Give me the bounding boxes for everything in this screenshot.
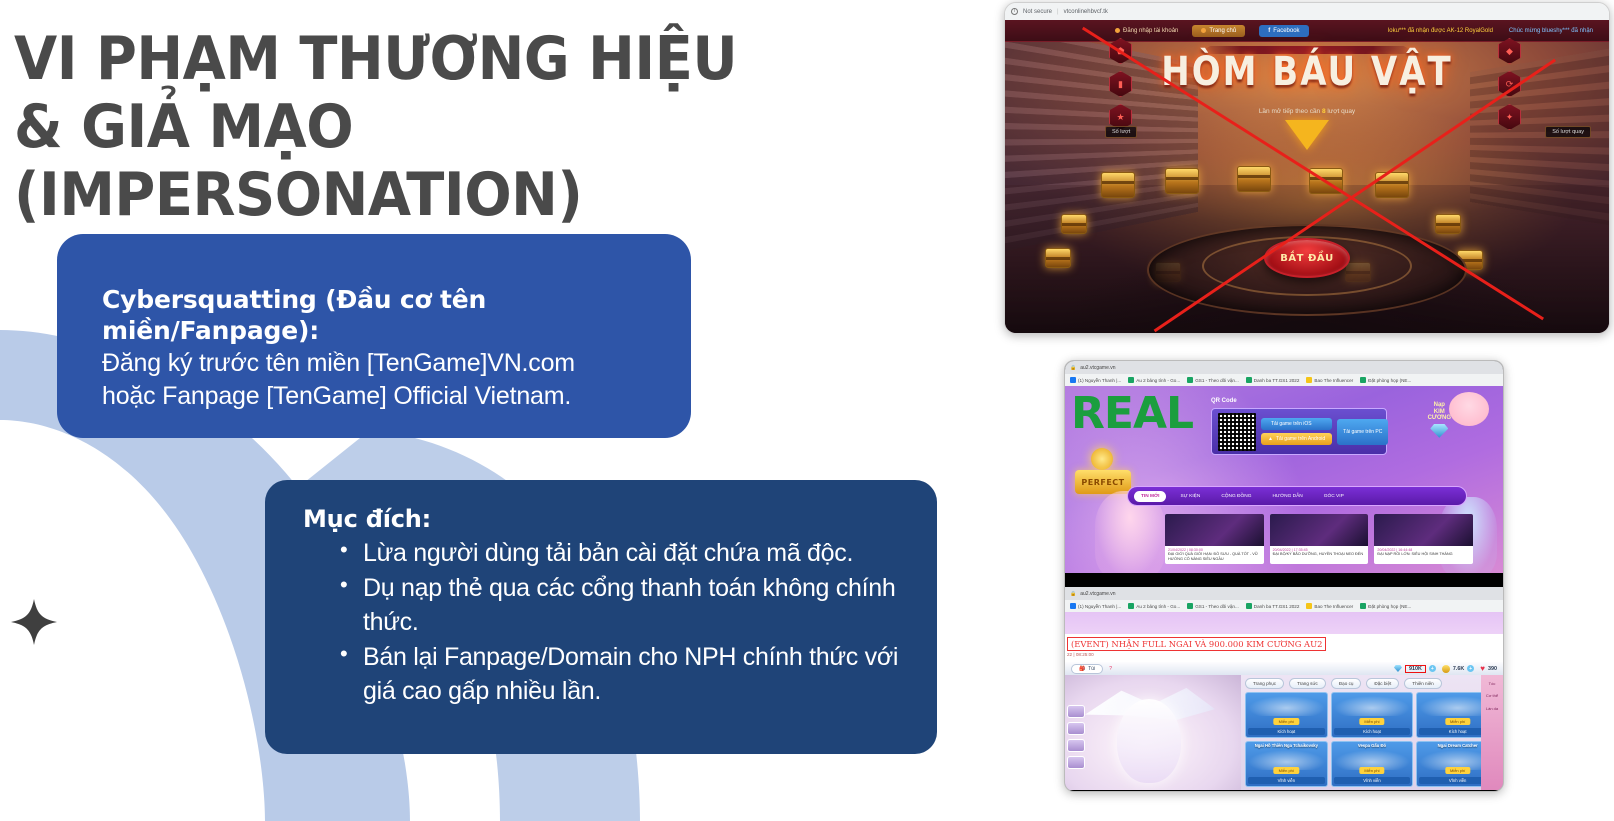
site-nav-bar: TIN MỚI SỰ KIỆN CỘNG ĐỒNG HƯỚNG DẪN GÓC … (1127, 486, 1467, 506)
bookmarks-bar: (1) Nguyễn Thanh |... Au 2 bảng tính - G… (1065, 374, 1503, 386)
mascot-icon (1449, 392, 1489, 426)
url-text: vtconlinehbvcf.tk (1064, 9, 1108, 15)
add-gold-button[interactable]: + (1467, 665, 1474, 672)
shop-item[interactable]: Miễn phí Kích hoạt (1245, 692, 1328, 738)
shop-item-tag: Miễn phí (1359, 767, 1384, 774)
bookmark-icon (1128, 377, 1134, 383)
subtitle-pre: Lần mở tiếp theo cần (1259, 108, 1320, 115)
lock-icon: 🔒 (1070, 365, 1076, 371)
content-column: VI PHẠM THƯƠNG HIỆU & GIẢ MẠO (IMPERSONA… (0, 0, 1000, 821)
start-button[interactable]: BẮT ĐẦU (1264, 238, 1350, 278)
shop-item-name: Ngai Hồ Thiên Nga Tchaikovsky (1248, 744, 1325, 749)
info-icon: i (1011, 8, 1018, 15)
subtitle-post: lượt quay (1327, 108, 1355, 115)
shop-item-art (1334, 696, 1411, 716)
shop-tab-dao-cu[interactable]: Đạo cụ (1331, 678, 1362, 689)
diamond-currency: 910K + (1394, 665, 1436, 673)
browser-chrome-fake: 🔒 au2.vtcgame.vn (1065, 587, 1503, 600)
avatar-slot-button[interactable] (1067, 722, 1085, 735)
login-label: Đăng nhập tài khoản (1123, 28, 1178, 34)
facebook-icon: f (1268, 28, 1270, 34)
browser-chrome-bottom: 🔒 au2.vtcgame.vn (1065, 361, 1503, 374)
purpose-heading: Mục đích: (303, 504, 937, 534)
list-item: Lừa người dùng tải bản cài đặt chứa mã đ… (337, 536, 917, 571)
news-card[interactable]: 21/04/2022 | 08:30:00 ĐẠI GIỚI QUÀ GIỚI … (1165, 514, 1264, 564)
gold-amount: 7.6K (1453, 666, 1464, 672)
bookmark-item[interactable]: (1) Nguyễn Thanh |... (1070, 603, 1121, 609)
hex-button-item[interactable]: ▮ (1109, 71, 1132, 97)
shop-item-tag: Miễn phí (1274, 718, 1299, 725)
browser-chrome-top: i Not secure | vtconlinehbvcf.tk (1005, 3, 1609, 20)
url-text-bottom: au2.vtcgame.vn (1080, 365, 1115, 371)
login-link[interactable]: Đăng nhập tài khoản (1115, 28, 1178, 34)
rail-label-co-the[interactable]: Cơ thể (1481, 687, 1503, 699)
purpose-bullet-list: Lừa người dùng tải bản cài đặt chứa mã đ… (337, 536, 937, 709)
shop-item-sub: Vĩnh viễn (1334, 777, 1411, 784)
news-thumbnail (1270, 514, 1369, 546)
android-icon: ▲ (1268, 436, 1273, 442)
bookmark-item[interactable]: Au 2 bảng tính - Go... (1128, 377, 1180, 383)
chest-icon[interactable] (1165, 168, 1199, 194)
page-title: VI PHẠM THƯƠNG HIỆU & GIẢ MẠO (IMPERSONA… (14, 26, 935, 229)
promo-nap: Nạp (1428, 402, 1451, 409)
address-bar[interactable]: i Not secure | vtconlinehbvcf.tk (1011, 8, 1108, 15)
left-hex-menu: ⬟ ▮ ★ (1109, 38, 1132, 130)
download-ios-label: Tải game trên iOS (1271, 421, 1312, 427)
address-bar-fake[interactable]: 🔒 au2.vtcgame.vn (1070, 591, 1116, 597)
bookmark-icon (1360, 603, 1366, 609)
shop-item-tag: Miễn phí (1445, 767, 1470, 774)
rail-label-lan-da[interactable]: Làn da (1481, 700, 1503, 712)
bookmark-item[interactable]: Bao The Influencer (1306, 377, 1353, 383)
fake-game-site-screenshot: i Not secure | vtconlinehbvcf.tk Đăng nh… (1004, 2, 1610, 334)
shop-item-art (1248, 696, 1325, 716)
purpose-card: Mục đích: Lừa người dùng tải bản cài đặt… (265, 480, 937, 754)
fake-game-hud: 🎒 Túi ? 910K + 7.6K + (1065, 662, 1503, 790)
page-title-line1: VI PHẠM THƯƠNG HIỆU (14, 24, 737, 94)
hex-button-gift[interactable]: ✦ (1498, 104, 1521, 130)
fake-site-stage: FAKE (EVENT) NHẬN FULL NGAI VÀ 900.000 K… (1065, 612, 1503, 662)
news-title: ĐẠI GIỚI QUÀ GIỚI HẠN: ĐỒ SƯU - QUÀ TỐT … (1165, 552, 1264, 564)
real-site-stage: REAL PERFECT QR Code Tải game trên iOS ▲ (1065, 386, 1503, 573)
diamond-promo[interactable]: Nạp KIM CƯƠNG (1428, 402, 1451, 438)
tab-huong-dan[interactable]: HƯỚNG DẪN (1265, 491, 1309, 502)
down-arrow-icon (1285, 120, 1329, 150)
bookmark-item[interactable]: Đặt phòng họp (NE... (1360, 377, 1411, 383)
chest-icon[interactable] (1101, 172, 1135, 198)
bookmark-icon (1246, 603, 1252, 609)
download-pc-button[interactable]: Tải game trên PC (1337, 419, 1388, 445)
bookmark-icon (1187, 377, 1193, 383)
event-timestamp: 22 | 08:25:00 (1067, 652, 1094, 657)
bookmark-item[interactable]: Danh ba TT.GS1 2022 (1246, 603, 1300, 609)
bookmark-label: (1) Nguyễn Thanh |... (1078, 604, 1121, 609)
news-title: ĐẠI NẠP RỒI LỚN: SIÊU HỘI SINH THÁNG (1374, 552, 1473, 560)
tab-su-kien[interactable]: SỰ KIỆN (1173, 491, 1207, 502)
bookmark-icon (1187, 603, 1193, 609)
avatar-slot-button[interactable] (1067, 739, 1085, 752)
chest-icon[interactable] (1045, 248, 1071, 268)
cybersquatting-card: Cybersquatting (Đầu cơ tên miền/Fanpage)… (57, 234, 691, 438)
bookmark-label: Au 2 bảng tính - Go... (1136, 378, 1180, 383)
heart-currency: ♥ 390 (1480, 665, 1497, 673)
shop-item[interactable]: Miễn phí Kích hoạt (1331, 692, 1414, 738)
event-banner-row: (EVENT) NHẬN FULL NGAI VÀ 900.000 KIM CƯ… (1065, 634, 1503, 654)
diamond-icon (1394, 665, 1402, 672)
chest-icon[interactable] (1435, 214, 1461, 234)
shop-right-rail: Tóc Cơ thể Làn da (1481, 675, 1503, 790)
avatar-slot-button[interactable] (1067, 705, 1085, 718)
spins-chip-left: Số lượt (1105, 126, 1137, 138)
home-icon (1201, 28, 1206, 33)
news-thumbnail (1165, 514, 1264, 546)
security-label: Not secure (1023, 9, 1052, 15)
spins-chip-right: Số lượt quay (1545, 126, 1591, 138)
news-card-row: 21/04/2022 | 08:30:00 ĐẠI GIỚI QUÀ GIỚI … (1165, 514, 1473, 564)
bookmark-item[interactable]: (1) Nguyễn Thanh |... (1070, 377, 1121, 383)
bookmark-label: Au 2 bảng tính - Go... (1136, 604, 1180, 609)
real-vs-fake-screenshot: 🔒 au2.vtcgame.vn (1) Nguyễn Thanh |... A… (1064, 360, 1504, 792)
hud-top-bar: 🎒 Túi ? 910K + 7.6K + (1065, 662, 1503, 675)
chest-icon[interactable] (1375, 172, 1409, 198)
news-thumbnail (1374, 514, 1473, 546)
shop-item-sub: Vĩnh viễn (1248, 777, 1325, 784)
diamond-icon (1430, 424, 1448, 438)
url-text-fake: au2.vtcgame.vn (1080, 591, 1115, 597)
shop-item-name: Vespa Gấu Đỏ (1334, 744, 1411, 749)
cybersquatting-line1: Đăng ký trước tên miền [TenGame]VN.com (102, 347, 691, 381)
bookmark-icon (1070, 603, 1076, 609)
screenshot-divider (1065, 573, 1503, 587)
bookmark-item[interactable]: Bao The Influencer (1306, 603, 1353, 609)
home-button[interactable]: Trang chủ (1192, 25, 1245, 37)
bookmark-icon (1306, 603, 1312, 609)
download-ios-button[interactable]: Tải game trên iOS (1261, 418, 1332, 430)
bookmark-item[interactable]: Đặt phòng họp (NE... (1360, 603, 1411, 609)
chest-icon[interactable] (1061, 214, 1087, 234)
chest-icon[interactable] (1309, 168, 1343, 194)
page-title-line2: & GIẢ MẠO (IMPERSONATION) (14, 94, 935, 230)
facebook-button[interactable]: f Facebook (1259, 25, 1308, 37)
screenshot-column: i Not secure | vtconlinehbvcf.tk Đăng nh… (1000, 0, 1614, 821)
qr-code-label: QR Code (1211, 398, 1237, 404)
bookmark-label: Bao The Influencer (1314, 378, 1353, 383)
bookmark-label: (1) Nguyễn Thanh |... (1078, 378, 1121, 383)
chest-icon[interactable] (1237, 166, 1271, 192)
gold-currency: 7.6K + (1442, 665, 1474, 673)
rail-label-toc[interactable]: Tóc (1481, 675, 1503, 687)
news-card[interactable]: 20/04/2022 | 17:35:45 ĐẠI BỘ/KỲ BÃO DƯỠN… (1270, 514, 1369, 564)
list-item: Bán lại Fanpage/Domain cho NPH chính thứ… (337, 640, 917, 709)
event-banner-text: (EVENT) NHẬN FULL NGAI VÀ 900.000 KIM CƯ… (1067, 637, 1326, 651)
shop-panel: Trang phục Trang sức Đạo cụ Đặc biệt Thi… (1241, 675, 1503, 790)
qr-code-icon (1218, 413, 1256, 451)
right-hex-menu: ◆ ⟳ ✦ (1498, 38, 1521, 130)
download-android-button[interactable]: ▲ Tải game trên Android (1261, 433, 1332, 445)
shop-tab-trang-suc[interactable]: Trang sức (1289, 678, 1326, 689)
bookmark-label: Bao The Influencer (1314, 604, 1353, 609)
shop-tab-row: Trang phục Trang sức Đạo cụ Đặc biệt Thi… (1241, 675, 1503, 692)
bookmark-label: Danh ba TT.GS1 2022 (1254, 604, 1300, 609)
game-page-body: Đăng nhập tài khoản Trang chủ f Facebook… (1005, 20, 1609, 334)
user-icon (1115, 28, 1120, 33)
bookmark-icon (1246, 377, 1252, 383)
avatar (1117, 699, 1181, 783)
cybersquatting-line2: hoặc Fanpage [TenGame] Official Vietnam. (102, 380, 691, 414)
star-badge-icon (1091, 448, 1113, 470)
bookmark-icon (1128, 603, 1134, 609)
tab-tin-moi[interactable]: TIN MỚI (1134, 491, 1166, 502)
avatar-slot-button[interactable] (1067, 756, 1085, 769)
bookmark-icon (1306, 377, 1312, 383)
download-pc-label: Tải game trên PC (1343, 429, 1382, 435)
bookmark-icon (1070, 377, 1076, 383)
bookmark-label: Danh ba TT.GS1 2022 (1254, 378, 1300, 383)
bookmarks-bar-fake: (1) Nguyễn Thanh |... Au 2 bảng tính - G… (1065, 600, 1503, 612)
home-label: Trang chủ (1209, 28, 1236, 34)
shop-grid-row-2: Ngai Hồ Thiên Nga Tchaikovsky Miễn phí V… (1241, 741, 1503, 787)
facebook-label: Facebook (1273, 28, 1299, 34)
heart-amount: 390 (1488, 666, 1497, 672)
bookmark-item[interactable]: Au 2 bảng tính - Go... (1128, 603, 1180, 609)
bag-label: Túi (1088, 666, 1095, 672)
list-item: Dụ nạp thẻ qua các cổng thanh toán không… (337, 571, 917, 640)
help-icon[interactable]: ? (1109, 666, 1112, 672)
shop-item-tag: Miễn phí (1274, 767, 1299, 774)
subtitle-count: 8 (1322, 108, 1326, 115)
hex-button-history[interactable]: ⟳ (1498, 71, 1521, 97)
shop-item-tag: Miễn phí (1359, 718, 1384, 725)
bookmark-label: GS1 - Theo dõi vận... (1195, 378, 1239, 383)
coin-icon (1442, 665, 1450, 673)
shop-item-action[interactable]: Kích hoạt (1334, 728, 1411, 735)
bookmark-item[interactable]: Danh ba TT.GS1 2022 (1246, 377, 1300, 383)
shop-item[interactable]: Ngai Hồ Thiên Nga Tchaikovsky Miễn phí V… (1245, 741, 1328, 787)
download-panel: Tải game trên iOS ▲ Tải game trên Androi… (1211, 408, 1387, 455)
hex-button-info[interactable]: ◆ (1498, 38, 1521, 64)
add-diamond-button[interactable]: + (1429, 665, 1436, 672)
shop-item-action[interactable]: Kích hoạt (1248, 728, 1325, 735)
bookmark-item[interactable]: GS1 - Theo dõi vận... (1187, 603, 1239, 609)
shop-item-tag: Miễn phí (1445, 718, 1470, 725)
promo-kim: KIM (1428, 409, 1451, 416)
promo-cuong: CƯƠNG (1428, 415, 1451, 422)
tab-cong-dong[interactable]: CỘNG ĐỒNG (1214, 491, 1258, 502)
shop-tab-thien-nien[interactable]: Thiên niên (1404, 678, 1441, 689)
bag-button[interactable]: 🎒 Túi (1071, 664, 1103, 674)
news-title: ĐẠI BỘ/KỲ BÃO DƯỠNG, HUYỀN THOẠI NEO ĐẾN (1270, 552, 1369, 560)
address-bar-bottom[interactable]: 🔒 au2.vtcgame.vn (1070, 365, 1116, 371)
download-android-label: Tải game trên Android (1276, 436, 1325, 442)
avatar-preview (1065, 675, 1241, 790)
lock-icon-fake: 🔒 (1070, 591, 1076, 597)
shop-item[interactable]: Vespa Gấu Đỏ Miễn phí Vĩnh viễn (1331, 741, 1414, 787)
real-label: REAL (1071, 392, 1193, 436)
bag-icon: 🎒 (1079, 666, 1085, 672)
bookmark-item[interactable]: GS1 - Theo dõi vận... (1187, 377, 1239, 383)
bookmark-label: GS1 - Theo dõi vận... (1195, 604, 1239, 609)
ticker-item-2: Chúc mừng blueshy*** đã nhận (1509, 28, 1593, 34)
diamond-amount: 910K (1405, 665, 1426, 673)
news-ticker: loku*** đã nhận được AK-12 RoyalGold Chú… (1388, 28, 1609, 34)
cybersquatting-heading: Cybersquatting (Đầu cơ tên miền/Fanpage)… (102, 284, 691, 347)
shop-grid-row-1: Miễn phí Kích hoạt Miễn phí Kích hoạt Mi… (1241, 692, 1503, 738)
bookmark-icon (1360, 377, 1366, 383)
omnibox-separator: | (1057, 9, 1059, 15)
bookmark-label: Đặt phòng họp (NE... (1368, 378, 1411, 383)
bookmark-label: Đặt phòng họp (NE... (1368, 604, 1411, 609)
shop-tab-dac-biet[interactable]: Đặc biệt (1366, 678, 1399, 689)
tab-goc-vip[interactable]: GÓC VIP (1317, 491, 1351, 502)
shop-tab-trang-phuc[interactable]: Trang phục (1245, 678, 1284, 689)
hex-button-weapon[interactable]: ⬟ (1109, 38, 1132, 64)
heart-icon: ♥ (1480, 665, 1485, 673)
avatar-side-buttons (1067, 705, 1085, 769)
ticker-item-1: loku*** đã nhận được AK-12 RoyalGold (1388, 28, 1493, 34)
news-card[interactable]: 20/04/2022 | 16:44:48 ĐẠI NẠP RỒI LỚN: S… (1374, 514, 1473, 564)
